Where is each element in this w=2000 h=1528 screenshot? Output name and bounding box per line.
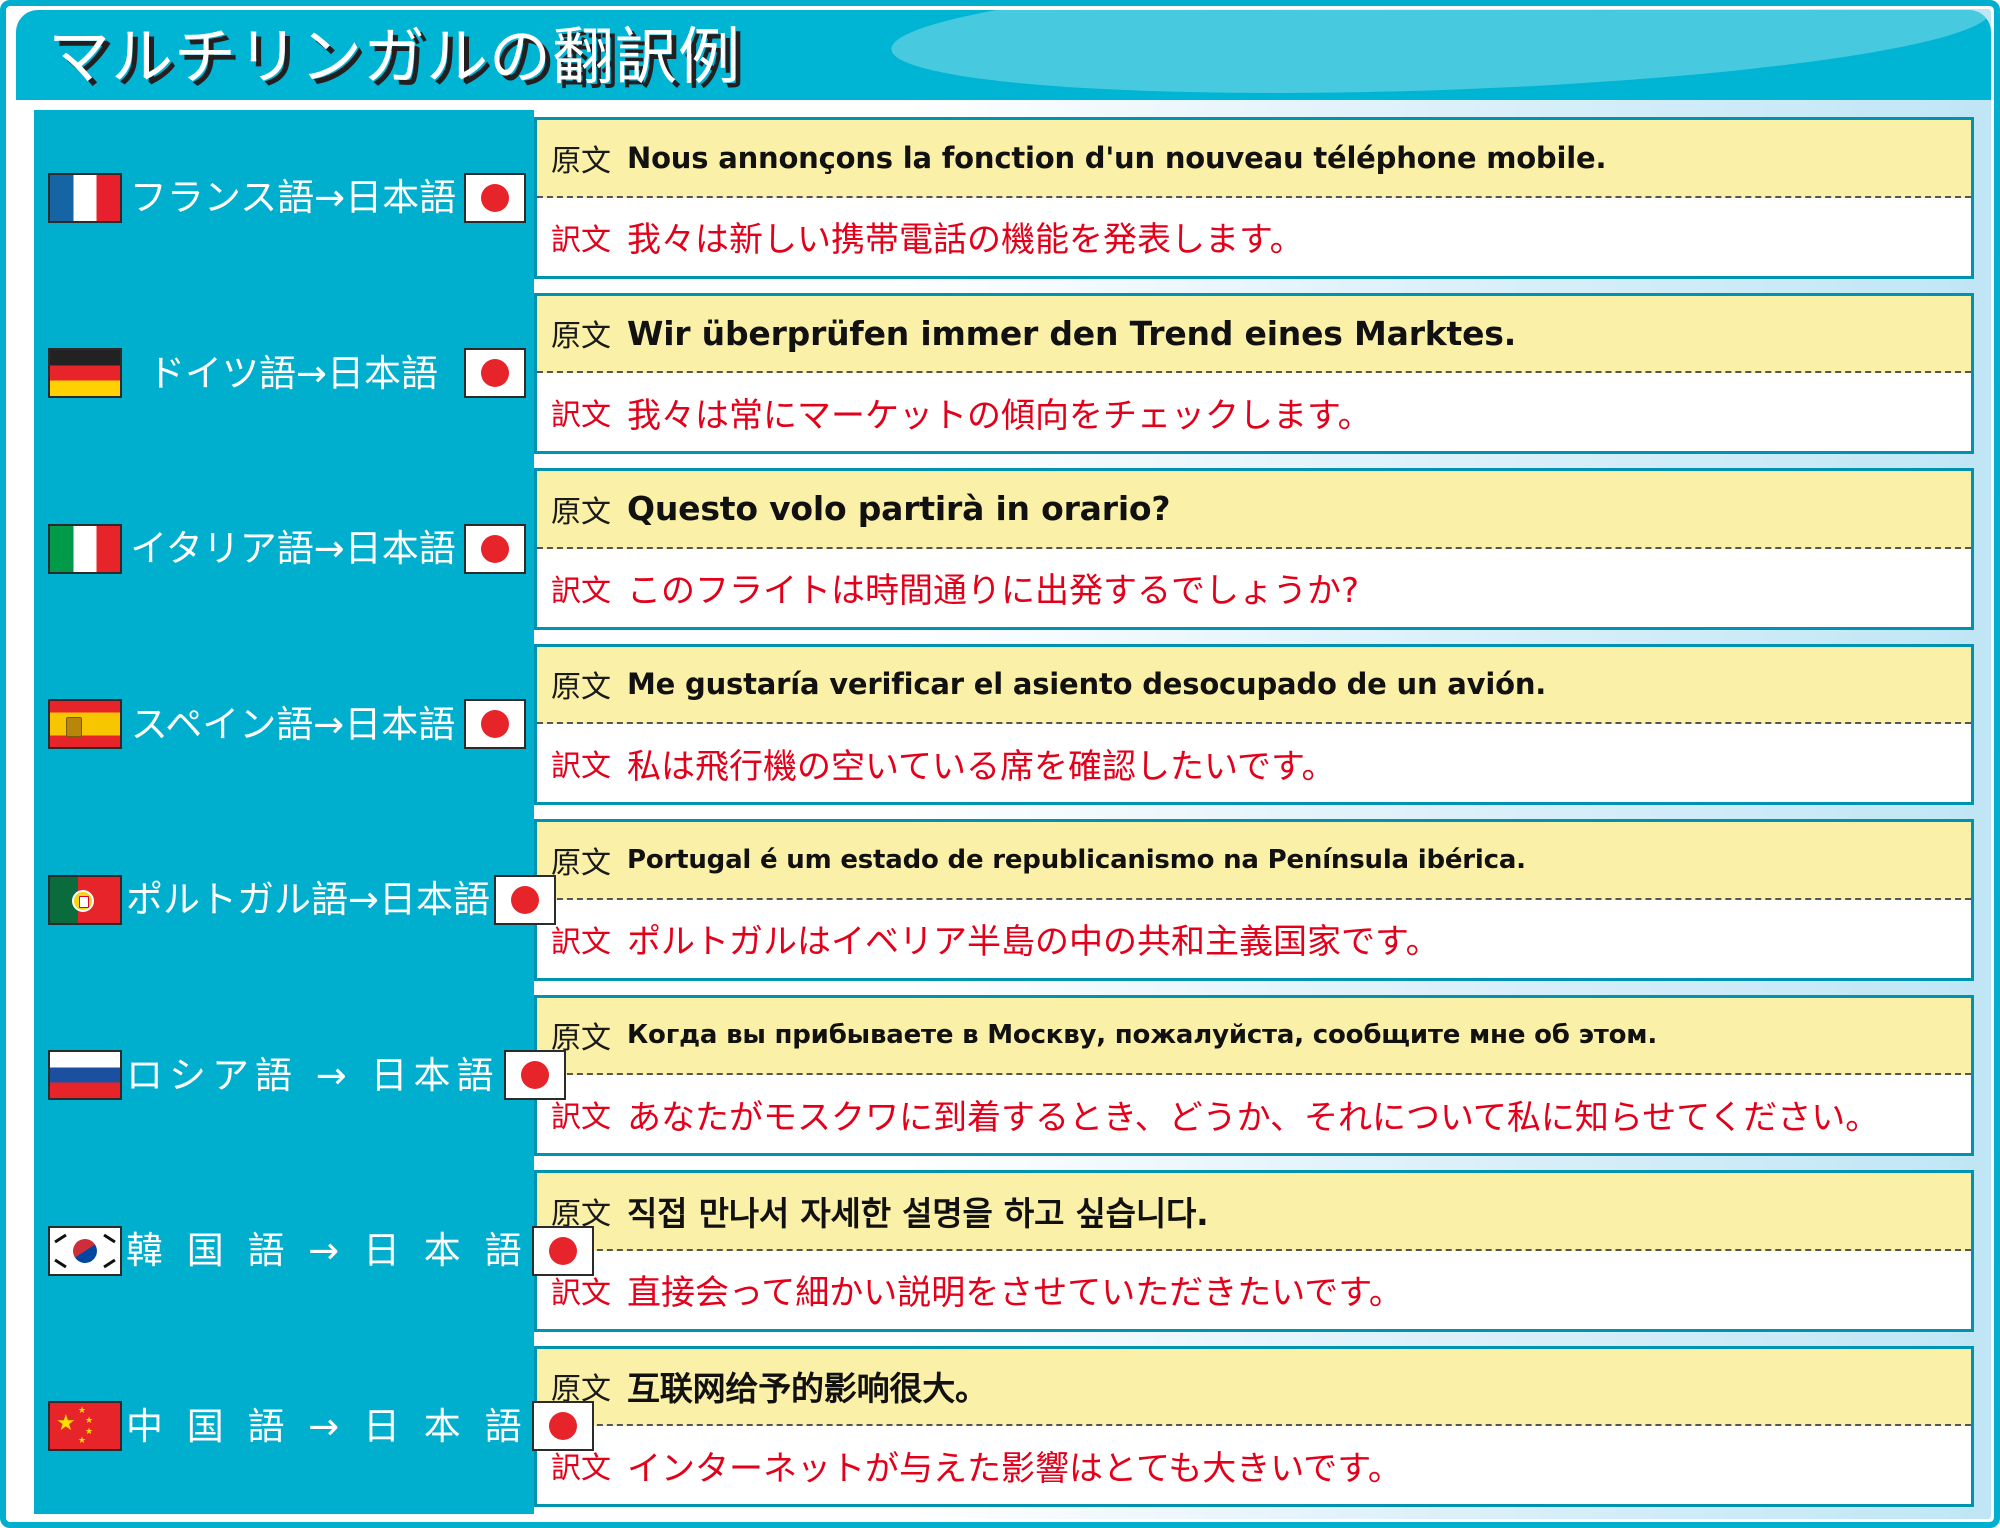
language-pair-cell: イタリア語→日本語 <box>34 461 534 637</box>
language-pair-cell: フランス語→日本語 <box>34 110 534 286</box>
source-tag-label: 原文 <box>551 662 611 706</box>
sentence-panel: 原文Nous annonçons la fonction d'un nouvea… <box>534 117 1974 279</box>
source-sentence-text: Wir überprüfen immer den Trend eines Mar… <box>627 314 1516 353</box>
star-icon: ★ <box>78 1437 86 1446</box>
target-sentence-row: 訳文インターネットが与えた影響はとても大きいです。 <box>537 1426 1971 1504</box>
portugal-crest-icon <box>72 890 94 912</box>
star-icon: ★ <box>85 1417 93 1426</box>
source-sentence-row: 原文Wir überprüfen immer den Trend eines M… <box>537 296 1971 374</box>
target-sentence-row: 訳文直接会って細かい説明をさせていただきたいです。 <box>537 1251 1971 1329</box>
star-icon: ★ <box>56 1413 76 1435</box>
translation-table: フランス語→日本語原文Nous annonçons la fonction d'… <box>34 110 1980 1514</box>
sentence-panel: 原文Me gustaría verificar el asiento desoc… <box>534 644 1974 806</box>
language-pair-label: 中 国 語 → 日 本 語 <box>122 1408 532 1445</box>
language-pair-label: イタリア語→日本語 <box>122 530 464 567</box>
translation-row: イタリア語→日本語原文Questo volo partirà in orario… <box>34 461 1980 637</box>
source-sentence-text: Me gustaría verificar el asiento desocup… <box>627 667 1546 701</box>
source-tag-label: 原文 <box>551 311 611 355</box>
translation-row: スペイン語→日本語原文Me gustaría verificar el asie… <box>34 637 1980 813</box>
target-sentence-row: 訳文我々は常にマーケットの傾向をチェックします。 <box>537 373 1971 451</box>
source-sentence-text: 직접 만나서 자세한 설명을 하고 싶습니다. <box>627 1187 1209 1235</box>
source-sentence-row: 原文Portugal é um estado de republicanismo… <box>537 822 1971 900</box>
target-sentence-text: 我々は新しい携帯電話の機能を発表します。 <box>627 212 1304 261</box>
japan-flag <box>464 348 526 398</box>
language-pair-cell: ポルトガル語→日本語 <box>34 812 534 988</box>
target-tag-label: 訳文 <box>551 215 611 259</box>
source-sentence-text: Questo volo partirà in orario? <box>627 489 1170 528</box>
language-pair-cell: スペイン語→日本語 <box>34 637 534 813</box>
sentence-panel: 原文Когда вы прибываете в Москву, пожалуйс… <box>534 995 1974 1157</box>
target-sentence-text: このフライトは時間通りに出発するでしょうか? <box>627 563 1359 612</box>
target-sentence-row: 訳文私は飛行機の空いている席を確認したいです。 <box>537 724 1971 802</box>
japan-flag <box>532 1401 594 1451</box>
japan-flag-disc <box>481 535 509 563</box>
language-pair-label: ポルトガル語→日本語 <box>122 881 494 918</box>
target-sentence-text: 我々は常にマーケットの傾向をチェックします。 <box>627 388 1372 437</box>
translation-row: ★★★★★中 国 語 → 日 本 語原文互联网给予的影响很大。訳文インターネット… <box>34 1339 1980 1515</box>
russia-flag <box>48 1050 122 1100</box>
source-tag-label: 原文 <box>551 838 611 882</box>
target-tag-label: 訳文 <box>551 566 611 610</box>
taeguk-icon <box>68 1234 101 1267</box>
target-tag-label: 訳文 <box>551 917 611 961</box>
target-sentence-row: 訳文このフライトは時間通りに出発するでしょうか? <box>537 549 1971 627</box>
source-sentence-text: Nous annonçons la fonction d'un nouveau … <box>627 141 1606 175</box>
japan-flag <box>464 699 526 749</box>
source-tag-label: 原文 <box>551 487 611 531</box>
target-sentence-row: 訳文ポルトガルはイベリア半島の中の共和主義国家です。 <box>537 900 1971 978</box>
translation-row: フランス語→日本語原文Nous annonçons la fonction d'… <box>34 110 1980 286</box>
germany-flag <box>48 348 122 398</box>
target-sentence-text: ポルトガルはイベリア半島の中の共和主義国家です。 <box>627 914 1440 963</box>
language-pair-label: フランス語→日本語 <box>122 179 464 216</box>
star-icon: ★ <box>78 1407 86 1416</box>
language-pair-cell: 韓 国 語 → 日 本 語 <box>34 1163 534 1339</box>
source-sentence-text: Portugal é um estado de republicanismo n… <box>627 845 1526 875</box>
title-sheen-decoration <box>889 10 1991 100</box>
translation-row: ポルトガル語→日本語原文Portugal é um estado de repu… <box>34 812 1980 988</box>
language-pair-label: 韓 国 語 → 日 本 語 <box>122 1232 532 1269</box>
trigram-bar <box>103 1233 116 1243</box>
sentence-panel: 原文Portugal é um estado de republicanismo… <box>534 819 1974 981</box>
language-pair-label: ロシア語 → 日本語 <box>122 1057 504 1094</box>
japan-flag-disc <box>481 359 509 387</box>
japan-flag-disc <box>549 1412 577 1440</box>
target-sentence-text: 私は飛行機の空いている席を確認したいです。 <box>627 739 1336 788</box>
title-bar: マルチリンガルの翻訳例 <box>16 10 1991 100</box>
japan-flag-disc <box>521 1061 549 1089</box>
trigram-bar <box>54 1233 67 1243</box>
china-flag: ★★★★★ <box>48 1401 122 1451</box>
target-sentence-text: 直接会って細かい説明をさせていただきたいです。 <box>627 1265 1403 1314</box>
target-sentence-row: 訳文あなたがモスクワに到着するとき、どうか、それについて私に知らせてください。 <box>537 1075 1971 1153</box>
japan-flag <box>464 524 526 574</box>
japan-flag <box>532 1226 594 1276</box>
portugal-flag <box>48 875 122 925</box>
target-tag-label: 訳文 <box>551 741 611 785</box>
target-sentence-text: インターネットが与えた影響はとても大きいです。 <box>627 1441 1402 1490</box>
source-sentence-text: 互联网给予的影响很大。 <box>627 1362 988 1410</box>
sentence-panel: 原文Questo volo partirà in orario?訳文このフライト… <box>534 468 1974 630</box>
korea-flag <box>48 1226 122 1276</box>
japan-flag-disc <box>481 184 509 212</box>
japan-flag <box>464 173 526 223</box>
language-pair-label: スペイン語→日本語 <box>122 706 464 743</box>
target-tag-label: 訳文 <box>551 390 611 434</box>
language-pair-cell: ★★★★★中 国 語 → 日 本 語 <box>34 1339 534 1515</box>
source-sentence-row: 原文Me gustaría verificar el asiento desoc… <box>537 647 1971 725</box>
spain-crest-icon <box>66 717 82 737</box>
japan-flag-disc <box>549 1237 577 1265</box>
target-sentence-text: あなたがモスクワに到着するとき、どうか、それについて私に知らせてください。 <box>627 1090 1879 1139</box>
sentence-panel: 原文Wir überprüfen immer den Trend eines M… <box>534 293 1974 455</box>
star-icon: ★ <box>85 1428 93 1437</box>
source-sentence-row: 原文Когда вы прибываете в Москву, пожалуйс… <box>537 998 1971 1076</box>
japan-flag <box>494 875 556 925</box>
sentence-panel: 原文互联网给予的影响很大。訳文インターネットが与えた影響はとても大きいです。 <box>534 1346 1974 1508</box>
language-pair-cell: ロシア語 → 日本語 <box>34 988 534 1164</box>
source-sentence-row: 原文Nous annonçons la fonction d'un nouvea… <box>537 120 1971 198</box>
translation-row: ドイツ語→日本語原文Wir überprüfen immer den Trend… <box>34 286 1980 462</box>
japan-flag-disc <box>481 710 509 738</box>
source-sentence-text: Когда вы прибываете в Москву, пожалуйста… <box>627 1020 1657 1050</box>
source-sentence-row: 原文Questo volo partirà in orario? <box>537 471 1971 549</box>
trigram-bar <box>103 1258 116 1268</box>
target-sentence-row: 訳文我々は新しい携帯電話の機能を発表します。 <box>537 198 1971 276</box>
france-flag <box>48 173 122 223</box>
spain-flag <box>48 699 122 749</box>
japan-flag <box>504 1050 566 1100</box>
poster-root: マルチリンガルの翻訳例 フランス語→日本語原文Nous annonçons la… <box>0 0 2000 1528</box>
italy-flag <box>48 524 122 574</box>
source-sentence-row: 原文互联网给予的影响很大。 <box>537 1349 1971 1427</box>
translation-row: 韓 国 語 → 日 本 語原文직접 만나서 자세한 설명을 하고 싶습니다.訳文… <box>34 1163 1980 1339</box>
language-pair-label: ドイツ語→日本語 <box>122 355 464 392</box>
trigram-bar <box>54 1258 67 1268</box>
page-title: マルチリンガルの翻訳例 <box>48 14 741 100</box>
sentence-panel: 原文직접 만나서 자세한 설명을 하고 싶습니다.訳文直接会って細かい説明をさせ… <box>534 1170 1974 1332</box>
translation-row: ロシア語 → 日本語原文Когда вы прибываете в Москву… <box>34 988 1980 1164</box>
source-tag-label: 原文 <box>551 136 611 180</box>
language-pair-cell: ドイツ語→日本語 <box>34 286 534 462</box>
japan-flag-disc <box>511 886 539 914</box>
source-sentence-row: 原文직접 만나서 자세한 설명을 하고 싶습니다. <box>537 1173 1971 1251</box>
